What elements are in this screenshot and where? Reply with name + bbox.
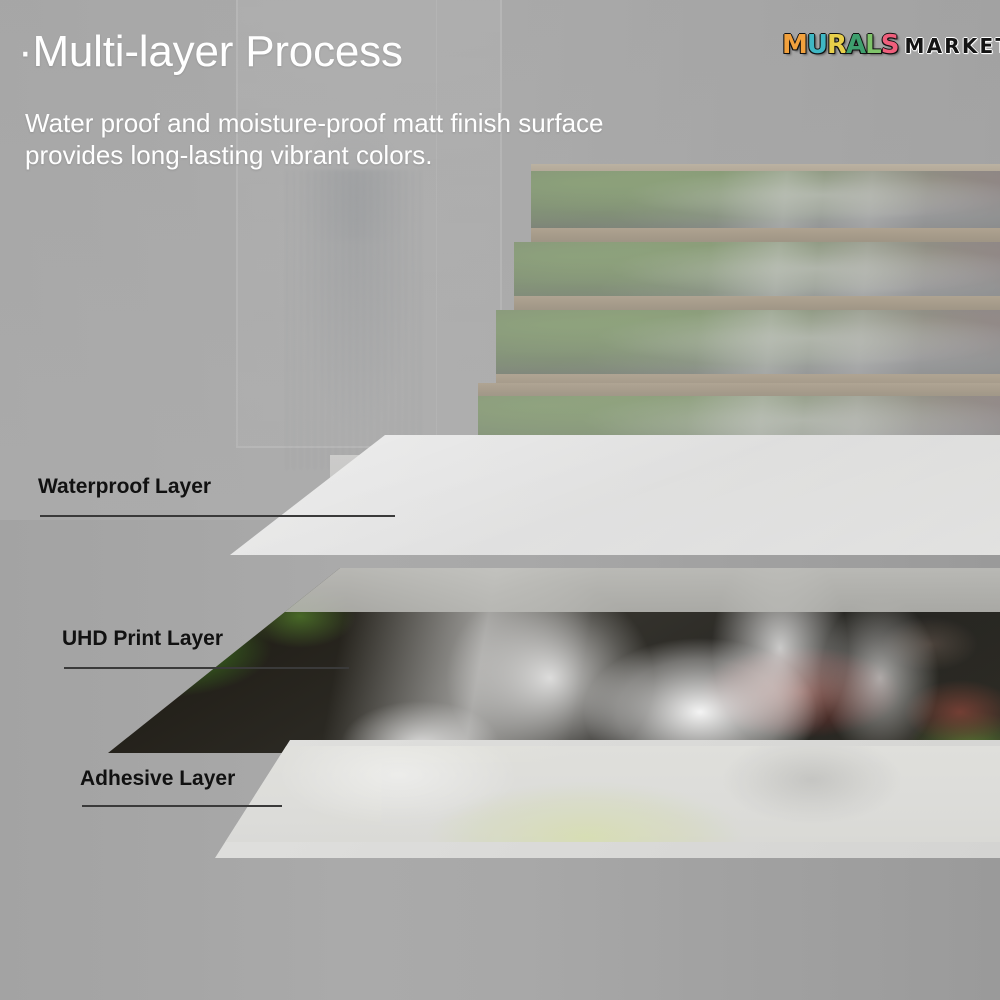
layer-label-waterproof: Waterproof Layer [38,475,211,499]
brand-logo-murals: MURALS [782,32,898,58]
brand-logo-letter-2: R [827,32,846,58]
brand-logo-letter-3: A [846,32,865,58]
riser-mural-4 [531,170,1000,232]
promo-graphic: ·Multi-layer Process Water proof and moi… [0,0,1000,1000]
stair-tread-3 [514,296,1000,310]
stair-riser-4 [531,170,1000,232]
layer-label-uhd-print: UHD Print Layer [62,627,223,651]
stair-riser-2 [496,310,1000,380]
brand-logo[interactable]: MURALS MARKET [782,32,1000,58]
page-title: ·Multi-layer Process [18,27,403,77]
brand-logo-market: MARKET [904,34,1000,58]
riser-mural-2 [496,310,1000,380]
layer-rule-waterproof [40,515,395,517]
layer-label-adhesive: Adhesive Layer [80,767,235,791]
brand-logo-letter-0: M [782,32,807,58]
layer-rule-uhd-print [64,667,349,669]
stair-tread-4 [531,228,1000,242]
brand-logo-letter-5: S [881,32,899,58]
layer-rule-adhesive [82,805,282,807]
stair-nosing-1 [478,383,1000,396]
page-subtitle: Water proof and moisture-proof matt fini… [25,108,604,171]
brand-logo-letter-1: U [807,32,827,58]
brand-logo-letter-4: L [865,32,881,58]
